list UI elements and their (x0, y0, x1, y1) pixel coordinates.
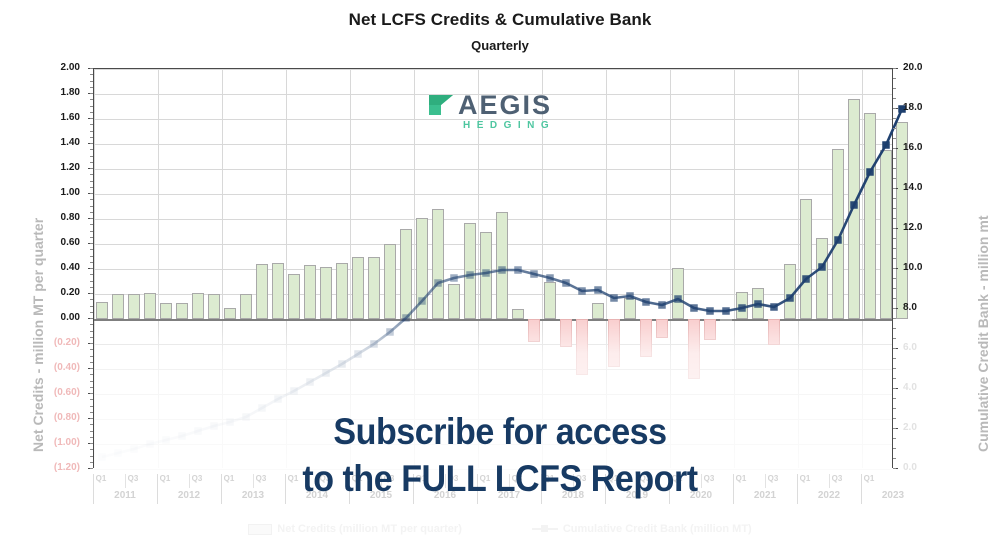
chart-title: Net LCFS Credits & Cumulative Bank (0, 10, 1000, 30)
y-tick-label-left: (0.20) (20, 338, 80, 348)
legend-label-cumulative-bank: Cumulative Credit Bank (million MT) (563, 523, 752, 535)
y-tick-mark-left-minor (90, 406, 93, 407)
chart-subtitle: Quarterly (0, 38, 1000, 53)
line-marker (434, 279, 442, 287)
y-tick-label-left: 0.00 (20, 313, 80, 323)
y-tick-mark-left-minor (90, 281, 93, 282)
y-tick-mark-right-minor (893, 308, 896, 309)
y-tick-mark-left-minor (90, 199, 93, 200)
line-marker (786, 294, 794, 302)
subscribe-cta-overlay[interactable]: Subscribe for access to the FULL LCFS Re… (40, 408, 960, 502)
line-marker (818, 263, 826, 271)
legend-item-net-credits[interactable]: Net Credits (million MT per quarter) (248, 523, 462, 535)
y-tick-mark-right-minor (893, 318, 896, 319)
line-marker (658, 301, 666, 309)
line-marker (674, 295, 682, 303)
line-marker (466, 271, 474, 279)
y-tick-mark-right-minor (893, 348, 896, 349)
line-marker (370, 340, 378, 348)
y-tick-mark-left-minor (90, 268, 93, 269)
y-tick-mark-left-minor (90, 156, 93, 157)
line-marker (386, 328, 394, 336)
y-tick-label-right: 10.0 (903, 263, 963, 273)
y-tick-mark-right-minor (893, 158, 896, 159)
y-tick-label-right: 6.0 (903, 343, 963, 353)
y-tick-label-left: 1.60 (20, 113, 80, 123)
y-tick-mark-left-minor (90, 274, 93, 275)
line-marker (642, 298, 650, 306)
y-tick-mark-right-minor (893, 278, 896, 279)
y-tick-mark-left-minor (90, 231, 93, 232)
y-tick-mark-left-minor (90, 131, 93, 132)
line-marker (850, 201, 858, 209)
y-tick-mark-right-minor (893, 138, 896, 139)
line-marker (802, 275, 810, 283)
line-marker (322, 369, 330, 377)
line-marker (738, 304, 746, 312)
y-tick-mark-right-minor (893, 358, 896, 359)
y-tick-label-right: 16.0 (903, 143, 963, 153)
y-tick-mark-left-minor (90, 68, 93, 69)
y-tick-mark-left-minor (90, 93, 93, 94)
y-tick-mark-right-minor (893, 188, 896, 189)
line-marker (690, 304, 698, 312)
line-marker (402, 314, 410, 322)
line-marker (882, 141, 890, 149)
y-tick-mark-right-minor (893, 268, 896, 269)
y-tick-mark-right-minor (893, 228, 896, 229)
chart-legend: Net Credits (million MT per quarter) Cum… (0, 518, 1000, 540)
y-tick-label-right: 4.0 (903, 383, 963, 393)
y-tick-mark-left-minor (90, 331, 93, 332)
y-tick-mark-right-minor (893, 178, 896, 179)
y-tick-mark-right-minor (893, 118, 896, 119)
y-tick-mark-right-minor (893, 128, 896, 129)
y-tick-mark-left-minor (90, 312, 93, 313)
y-tick-mark-left-minor (90, 299, 93, 300)
y-tick-mark-left-minor (90, 337, 93, 338)
line-marker (306, 378, 314, 386)
y-tick-mark-left-minor (90, 174, 93, 175)
y-tick-mark-right-minor (893, 288, 896, 289)
lcfs-credits-chart: Net LCFS Credits & Cumulative Bank Quart… (0, 0, 1000, 544)
y-tick-mark-left-minor (90, 87, 93, 88)
line-marker (546, 274, 554, 282)
y-tick-mark-right-minor (893, 98, 896, 99)
line-marker (482, 269, 490, 277)
y-tick-mark-left-minor (90, 243, 93, 244)
y-tick-label-right: 12.0 (903, 223, 963, 233)
y-tick-mark-right-minor (893, 78, 896, 79)
line-marker (498, 266, 506, 274)
y-tick-mark-right-minor (893, 68, 896, 69)
y-tick-mark-left-minor (90, 99, 93, 100)
y-tick-mark-right-minor (893, 328, 896, 329)
line-marker (514, 266, 522, 274)
y-tick-label-left: 1.20 (20, 163, 80, 173)
y-tick-mark-left-minor (90, 249, 93, 250)
y-tick-label-left: (0.40) (20, 363, 80, 373)
line-marker (722, 307, 730, 315)
y-tick-mark-left-minor (90, 356, 93, 357)
y-tick-mark-left-minor (90, 212, 93, 213)
y-tick-mark-left-minor (90, 393, 93, 394)
y-tick-mark-left-minor (90, 262, 93, 263)
y-tick-mark-left-minor (90, 224, 93, 225)
line-marker (530, 270, 538, 278)
y-tick-mark-left-minor (90, 181, 93, 182)
y-tick-mark-right-minor (893, 148, 896, 149)
legend-line-swatch-icon (532, 524, 558, 534)
logo-wordmark: AEGIS (458, 90, 552, 120)
y-tick-mark-right-minor (893, 258, 896, 259)
y-tick-mark-left-minor (90, 387, 93, 388)
y-tick-label-left: (0.60) (20, 388, 80, 398)
y-tick-mark-left-minor (90, 118, 93, 119)
line-marker (274, 395, 282, 403)
y-tick-mark-left-minor (90, 162, 93, 163)
y-tick-mark-left-minor (90, 324, 93, 325)
line-marker (338, 360, 346, 368)
y-tick-mark-left-minor (90, 74, 93, 75)
y-tick-mark-left-minor (90, 218, 93, 219)
y-tick-mark-left-minor (90, 374, 93, 375)
y-tick-mark-right-minor (893, 388, 896, 389)
line-marker (754, 300, 762, 308)
y-tick-mark-right-minor (893, 88, 896, 89)
y-tick-mark-right-minor (893, 198, 896, 199)
y-tick-mark-left-minor (90, 149, 93, 150)
y-tick-mark-right-minor (893, 238, 896, 239)
y-tick-mark-left-minor (90, 349, 93, 350)
legend-bar-swatch-icon (248, 524, 272, 535)
line-marker (834, 236, 842, 244)
y-tick-mark-left-minor (90, 237, 93, 238)
cta-line-2: to the FULL LCFS Report (40, 455, 960, 502)
line-marker (594, 286, 602, 294)
line-marker (578, 287, 586, 295)
y-tick-mark-left-minor (90, 112, 93, 113)
y-axis-right-title: Cumulative Credit Bank - million mt (975, 216, 991, 452)
y-tick-mark-left-minor (90, 168, 93, 169)
line-marker (418, 297, 426, 305)
y-tick-label-right: 20.0 (903, 63, 963, 73)
cta-line-1: Subscribe for access (40, 408, 960, 455)
y-tick-label-right: 18.0 (903, 103, 963, 113)
line-marker (770, 303, 778, 311)
y-tick-label-right: 8.0 (903, 303, 963, 313)
y-tick-label-right: 14.0 (903, 183, 963, 193)
y-tick-label-left: 2.00 (20, 63, 80, 73)
y-tick-mark-left-minor (90, 256, 93, 257)
legend-label-net-credits: Net Credits (million MT per quarter) (277, 523, 462, 535)
line-marker (290, 387, 298, 395)
line-marker (866, 168, 874, 176)
cumulative-bank-line-path (102, 109, 902, 457)
line-marker (706, 307, 714, 315)
y-tick-mark-left-minor (90, 318, 93, 319)
y-tick-mark-left-minor (90, 137, 93, 138)
y-tick-mark-left-minor (90, 106, 93, 107)
y-tick-mark-right-minor (893, 168, 896, 169)
y-tick-mark-left-minor (90, 187, 93, 188)
y-tick-mark-right-minor (893, 218, 896, 219)
line-marker (354, 350, 362, 358)
y-tick-label-left: 0.60 (20, 238, 80, 248)
line-marker (562, 279, 570, 287)
y-tick-mark-left-minor (90, 306, 93, 307)
logo-subtext: HEDGING (463, 120, 555, 131)
y-tick-mark-left-minor (90, 362, 93, 363)
y-tick-mark-right-minor (893, 368, 896, 369)
y-tick-mark-left-minor (90, 293, 93, 294)
y-tick-mark-left-minor (90, 368, 93, 369)
y-tick-mark-left-minor (90, 343, 93, 344)
y-tick-mark-left-minor (90, 193, 93, 194)
line-marker (610, 294, 618, 302)
y-tick-label-left: 0.40 (20, 263, 80, 273)
line-marker (626, 292, 634, 300)
y-tick-mark-left-minor (90, 206, 93, 207)
y-tick-mark-left-minor (90, 287, 93, 288)
y-tick-mark-left-minor (90, 143, 93, 144)
y-tick-mark-right-minor (893, 398, 896, 399)
y-tick-label-left: 0.80 (20, 213, 80, 223)
y-tick-mark-right-minor (893, 248, 896, 249)
legend-item-cumulative-bank[interactable]: Cumulative Credit Bank (million MT) (532, 523, 752, 535)
y-tick-mark-right-minor (893, 208, 896, 209)
y-tick-mark-left-minor (90, 81, 93, 82)
line-marker (450, 274, 458, 282)
y-tick-mark-right-minor (893, 338, 896, 339)
aegis-flag-icon (428, 94, 454, 116)
y-tick-label-left: 0.20 (20, 288, 80, 298)
y-tick-mark-right-minor (893, 378, 896, 379)
y-tick-label-left: 1.80 (20, 88, 80, 98)
aegis-hedging-logo: AEGIS HEDGING (428, 90, 568, 136)
y-tick-label-left: 1.40 (20, 138, 80, 148)
y-tick-mark-left-minor (90, 381, 93, 382)
y-tick-mark-left-minor (90, 124, 93, 125)
y-tick-mark-right-minor (893, 298, 896, 299)
y-tick-mark-left-minor (90, 399, 93, 400)
y-tick-mark-right-minor (893, 108, 896, 109)
y-tick-label-left: 1.00 (20, 188, 80, 198)
